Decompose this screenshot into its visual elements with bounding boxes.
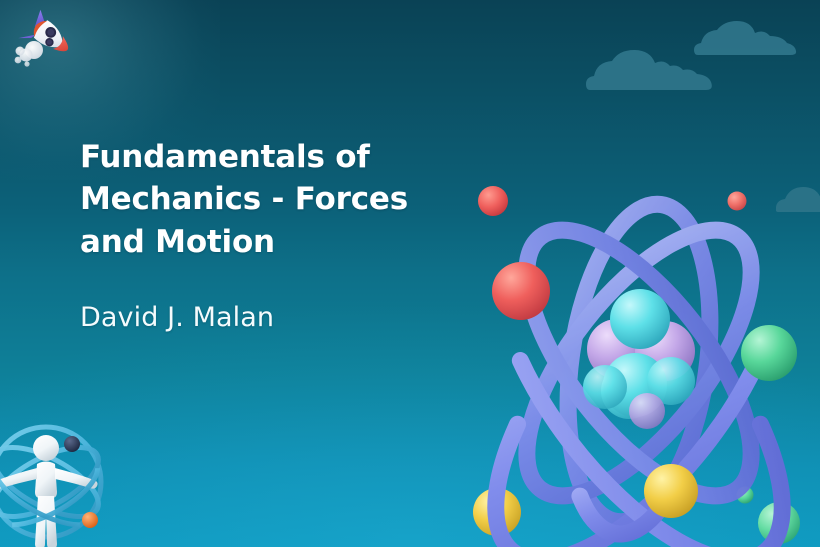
human-figure <box>0 435 98 547</box>
sphere-red-large <box>476 184 510 218</box>
orbit-arc-front-c <box>575 474 674 541</box>
human-atom-illustration <box>0 404 166 547</box>
presentation-slide: Fundamentals of Mechanics - Forces and M… <box>0 0 820 547</box>
bottom-glow <box>0 307 820 547</box>
orbit-arc-front-a <box>454 268 766 547</box>
page-title: Fundamentals of Mechanics - Forces and M… <box>80 136 420 263</box>
rocket-smoke <box>15 41 43 67</box>
orbit-arc-front-b <box>512 268 820 547</box>
sphere-orange <box>82 512 98 528</box>
sphere-dark-navy <box>64 436 80 452</box>
human-orbit-front-a <box>7 468 106 533</box>
sphere-yellow-big <box>470 485 526 541</box>
electron-yellow <box>644 464 698 518</box>
rocket-icon <box>10 6 86 72</box>
cloud-small <box>694 18 798 60</box>
slide-text-block: Fundamentals of Mechanics - Forces and M… <box>80 136 420 333</box>
atom-nucleus <box>583 289 695 429</box>
electron-red <box>492 262 550 320</box>
cloud-edge <box>776 182 820 214</box>
human-orbit-a <box>0 427 101 537</box>
sphere-red-small <box>726 190 748 212</box>
orbit-ring-right-back <box>487 195 791 531</box>
cloud-large <box>584 44 718 94</box>
electron-green <box>741 325 797 381</box>
sphere-green-big <box>757 499 807 547</box>
human-orbit-c <box>0 434 108 531</box>
orbit-ring-left-back <box>487 195 791 531</box>
human-orbit-b <box>0 434 108 531</box>
human-orbit-front-b <box>0 468 85 533</box>
sphere-green-small <box>735 485 755 505</box>
author-name: David J. Malan <box>80 263 420 333</box>
atom-illustration <box>444 158 820 547</box>
orbit-ring-vertical-back <box>549 195 728 531</box>
